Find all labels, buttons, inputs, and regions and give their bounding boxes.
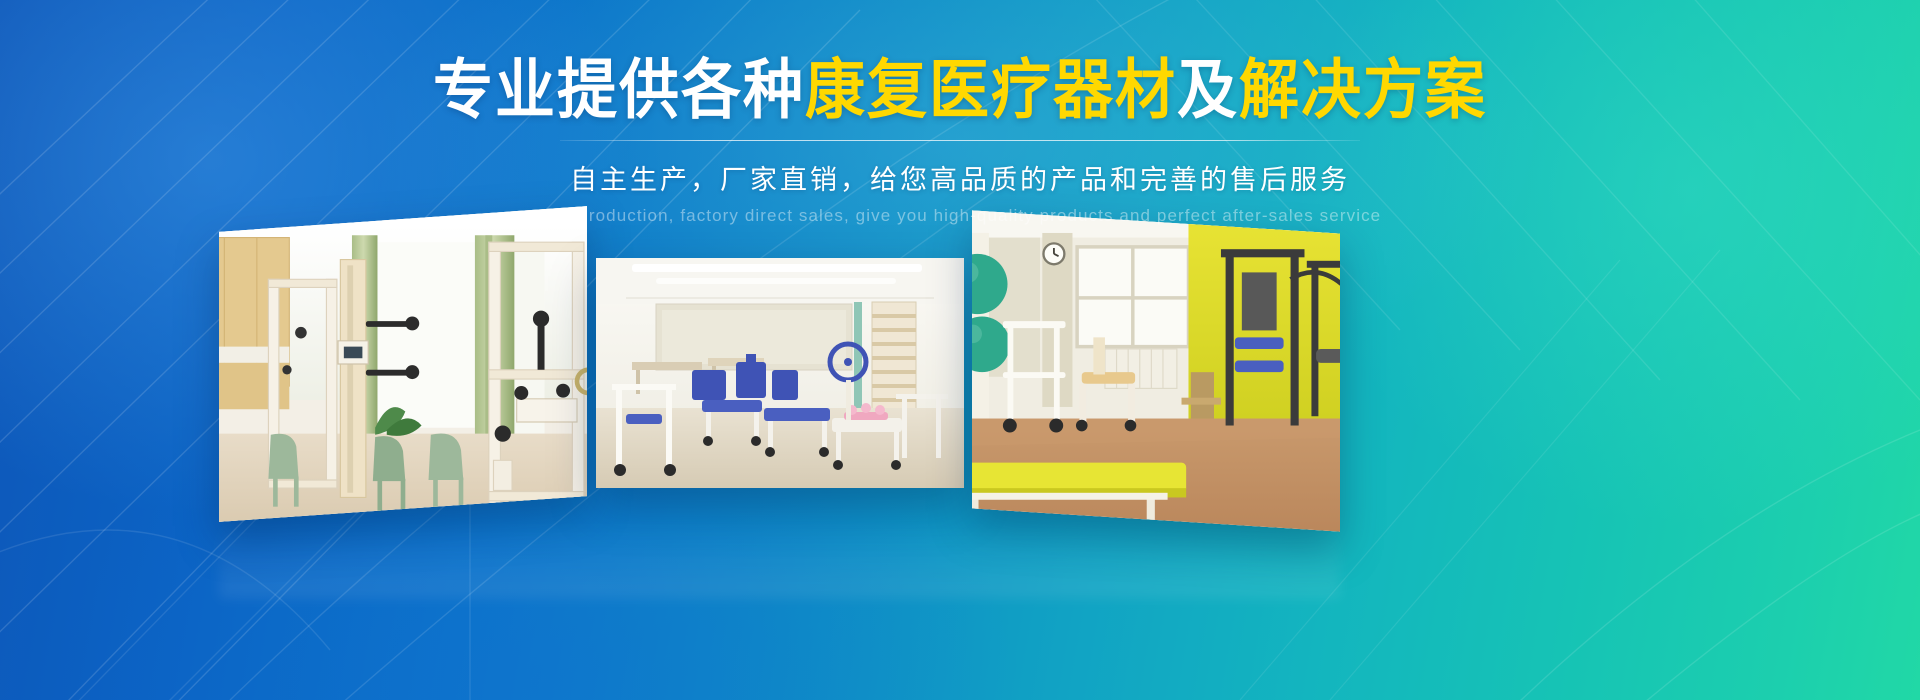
gallery-photo-rehabilitation-training-room[interactable] — [219, 206, 587, 522]
banner-copy: 专业提供各种康复医疗器材及解决方案 自主生产，厂家直销，给您高品质的产品和完善的… — [0, 58, 1920, 226]
gallery-reflection — [219, 520, 1340, 598]
headline-segment-3: 及 — [1177, 54, 1239, 126]
promo-banner: 专业提供各种康复医疗器材及解决方案 自主生产，厂家直销，给您高品质的产品和完善的… — [0, 0, 1920, 700]
photo-rehabilitation-training-room-image — [219, 206, 587, 522]
headline-segment-2: 康复医疗器材 — [805, 54, 1177, 126]
subtitle-english: Self production, factory direct sales, g… — [0, 206, 1920, 226]
headline-segment-4: 解决方案 — [1239, 54, 1487, 126]
subtitle-chinese: 自主生产，厂家直销，给您高品质的产品和完善的售后服务 — [0, 158, 1920, 197]
gallery-photo-rehabilitation-equipment-hall[interactable] — [596, 258, 964, 488]
headline-segment-1: 专业提供各种 — [433, 54, 805, 126]
headline: 专业提供各种康复医疗器材及解决方案 — [0, 58, 1920, 123]
divider-line — [560, 140, 1360, 141]
photo-physiotherapy-gym-image — [972, 210, 1340, 531]
photo-rehabilitation-equipment-hall-image — [596, 258, 964, 488]
headline-divider — [560, 140, 1360, 141]
gallery-photo-physiotherapy-gym[interactable] — [972, 210, 1340, 531]
